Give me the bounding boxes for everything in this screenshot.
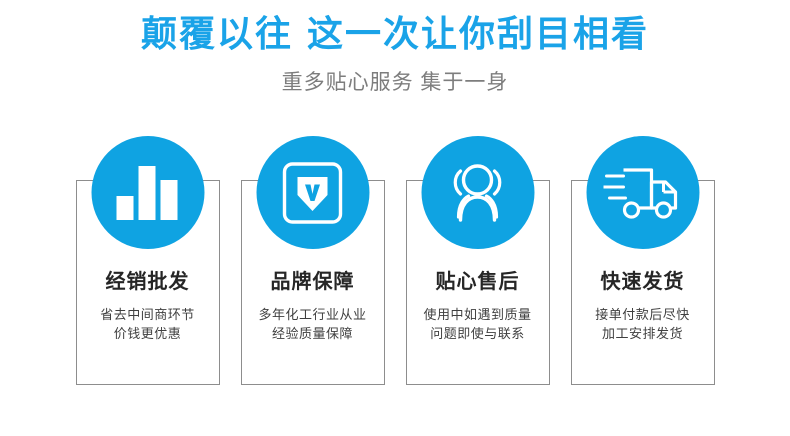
page-title-part1: 颠覆以往 bbox=[141, 13, 293, 54]
feature-card-description-line1: 接单付款后尽快 bbox=[576, 305, 710, 324]
feature-card-body: 贴心售后 使用中如遇到质量 问题即使与联系 bbox=[407, 269, 549, 343]
feature-card-description: 接单付款后尽快 加工安排发货 bbox=[576, 305, 710, 343]
feature-card-description-line2: 问题即使与联系 bbox=[411, 324, 545, 343]
banner-header: 颠覆以往这一次让你刮目相看 重多贴心服务 集于一身 bbox=[0, 0, 790, 98]
bar-chart-icon bbox=[91, 136, 204, 249]
feature-card-after-sales[interactable]: 贴心售后 使用中如遇到质量 问题即使与联系 bbox=[406, 180, 550, 385]
page-title: 颠覆以往这一次让你刮目相看 bbox=[0, 12, 790, 56]
feature-card-title: 贴心售后 bbox=[411, 269, 545, 295]
feature-card-body: 品牌保障 多年化工行业从业 经验质量保障 bbox=[242, 269, 384, 343]
shield-check-icon bbox=[256, 136, 369, 249]
service-features-banner: 颠覆以往这一次让你刮目相看 重多贴心服务 集于一身 经销批发 省去中间商环节 价… bbox=[0, 0, 790, 436]
feature-card-description-line2: 价钱更优惠 bbox=[81, 324, 215, 343]
feature-card-description-line2: 加工安排发货 bbox=[576, 324, 710, 343]
feature-card-title: 经销批发 bbox=[81, 269, 215, 295]
page-title-part2: 这一次让你刮目相看 bbox=[307, 13, 649, 54]
feature-card-description-line1: 使用中如遇到质量 bbox=[411, 305, 545, 324]
feature-card-description-line1: 省去中间商环节 bbox=[81, 305, 215, 324]
feature-card-fast-shipping[interactable]: 快速发货 接单付款后尽快 加工安排发货 bbox=[571, 180, 715, 385]
feature-card-description-line1: 多年化工行业从业 bbox=[246, 305, 380, 324]
feature-card-body: 快速发货 接单付款后尽快 加工安排发货 bbox=[572, 269, 714, 343]
feature-card-brand-guarantee[interactable]: 品牌保障 多年化工行业从业 经验质量保障 bbox=[241, 180, 385, 385]
feature-card-description-line2: 经验质量保障 bbox=[246, 324, 380, 343]
feature-card-description: 多年化工行业从业 经验质量保障 bbox=[246, 305, 380, 343]
feature-card-body: 经销批发 省去中间商环节 价钱更优惠 bbox=[77, 269, 219, 343]
page-subtitle: 重多贴心服务 集于一身 bbox=[0, 68, 790, 98]
delivery-truck-icon bbox=[586, 136, 699, 249]
feature-card-description: 省去中间商环节 价钱更优惠 bbox=[81, 305, 215, 343]
feature-card-title: 品牌保障 bbox=[246, 269, 380, 295]
feature-card-description: 使用中如遇到质量 问题即使与联系 bbox=[411, 305, 545, 343]
people-group-icon bbox=[421, 136, 534, 249]
feature-card-wholesale[interactable]: 经销批发 省去中间商环节 价钱更优惠 bbox=[76, 180, 220, 385]
feature-card-title: 快速发货 bbox=[576, 269, 710, 295]
feature-card-list: 经销批发 省去中间商环节 价钱更优惠 品牌保障 多年化工行业从业 bbox=[0, 180, 790, 386]
